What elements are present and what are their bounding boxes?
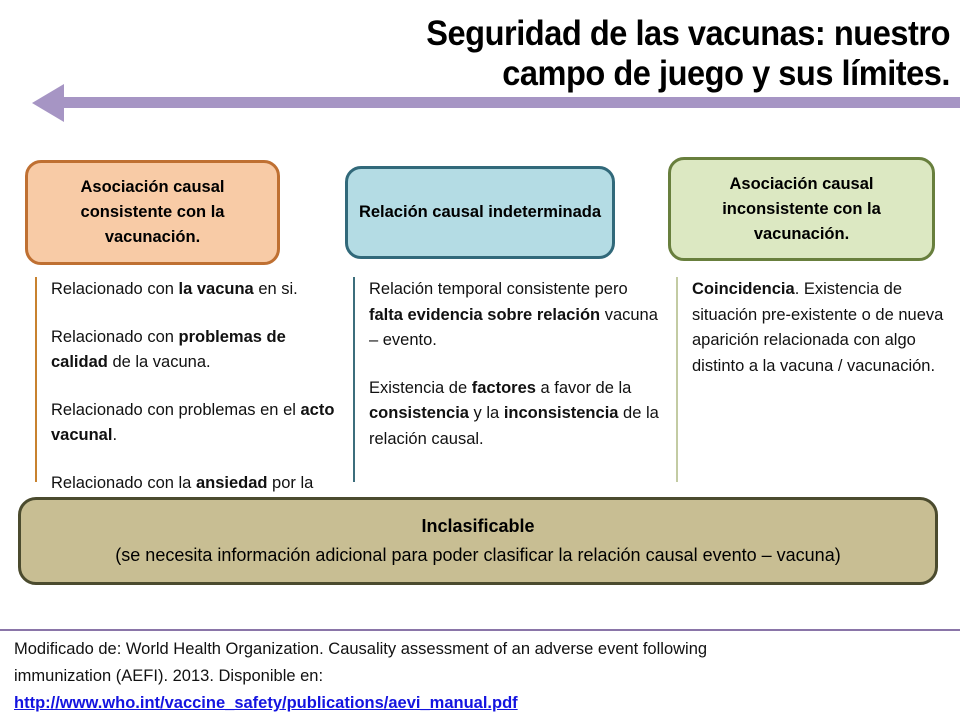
category-label-consistente: Asociación causal consistente con la vac…: [38, 175, 267, 250]
body-text: en si.: [254, 280, 298, 298]
detail-column-consistente: Relacionado con la vacuna en si.Relacion…: [35, 277, 345, 482]
category-box-consistente[interactable]: Asociación causal consistente con la vac…: [25, 160, 280, 265]
detail-paragraph: Coincidencia. Existencia de situación pr…: [692, 277, 951, 379]
unclassifiable-title: Inclasificable: [421, 512, 534, 541]
body-text: Relacionado con: [51, 280, 179, 298]
page-title-line-1: Seguridad de las vacunas: nuestro: [253, 14, 951, 54]
detail-column-inconsistente: Coincidencia. Existencia de situación pr…: [676, 277, 951, 482]
category-box-indeterminada[interactable]: Relación causal indeterminada: [345, 166, 615, 259]
footer-line-2: immunization (AEFI). 2013. Disponible en…: [14, 667, 323, 685]
page-title: Seguridad de las vacunas: nuestro campo …: [253, 14, 951, 94]
body-text: Relación temporal consistente pero: [369, 280, 628, 298]
emphasis-text: falta evidencia sobre relación: [369, 306, 600, 324]
unclassifiable-subtitle: (se necesita información adicional para …: [115, 541, 840, 570]
category-box-inconsistente[interactable]: Asociación causal inconsistente con la v…: [668, 157, 935, 261]
body-text: de la vacuna.: [108, 353, 211, 371]
body-text: .: [112, 426, 117, 444]
category-label-indeterminada: Relación causal indeterminada: [359, 200, 601, 225]
body-text: y la: [469, 404, 504, 422]
detail-paragraph: Relacionado con problemas en el acto vac…: [51, 398, 345, 449]
paragraph-gap: [51, 376, 345, 398]
emphasis-text: factores: [472, 379, 536, 397]
footer-citation: Modificado de: World Health Organization…: [14, 636, 954, 717]
footer-source-link[interactable]: http://www.who.int/vaccine_safety/public…: [14, 690, 518, 717]
detail-column-indeterminada: Relación temporal consistente pero falta…: [353, 277, 663, 482]
body-text: a favor de la: [536, 379, 631, 397]
paragraph-gap: [51, 449, 345, 471]
emphasis-text: consistencia: [369, 404, 469, 422]
category-label-inconsistente: Asociación causal inconsistente con la v…: [681, 172, 922, 247]
left-arrow-shaft: [58, 97, 960, 108]
detail-paragraph: Existencia de factores a favor de la con…: [369, 376, 663, 453]
emphasis-text: la vacuna: [179, 280, 254, 298]
footer-line-1: Modificado de: World Health Organization…: [14, 640, 707, 658]
body-text: Existencia de: [369, 379, 472, 397]
detail-paragraph: Relacionado con problemas de calidad de …: [51, 325, 345, 376]
unclassifiable-box[interactable]: Inclasificable (se necesita información …: [18, 497, 938, 585]
body-text: Relacionado con problemas en el: [51, 401, 301, 419]
body-text: Relacionado con la: [51, 474, 196, 492]
paragraph-gap: [369, 354, 663, 376]
emphasis-text: ansiedad: [196, 474, 268, 492]
footer-divider: [0, 629, 960, 631]
slide-root: Seguridad de las vacunas: nuestro campo …: [0, 0, 960, 720]
detail-paragraph: Relacionado con la vacuna en si.: [51, 277, 345, 303]
left-arrow-icon: [18, 84, 958, 122]
detail-paragraph: Relación temporal consistente pero falta…: [369, 277, 663, 354]
body-text: Relacionado con: [51, 328, 179, 346]
emphasis-text: Coincidencia: [692, 280, 795, 298]
paragraph-gap: [51, 303, 345, 325]
emphasis-text: inconsistencia: [504, 404, 619, 422]
